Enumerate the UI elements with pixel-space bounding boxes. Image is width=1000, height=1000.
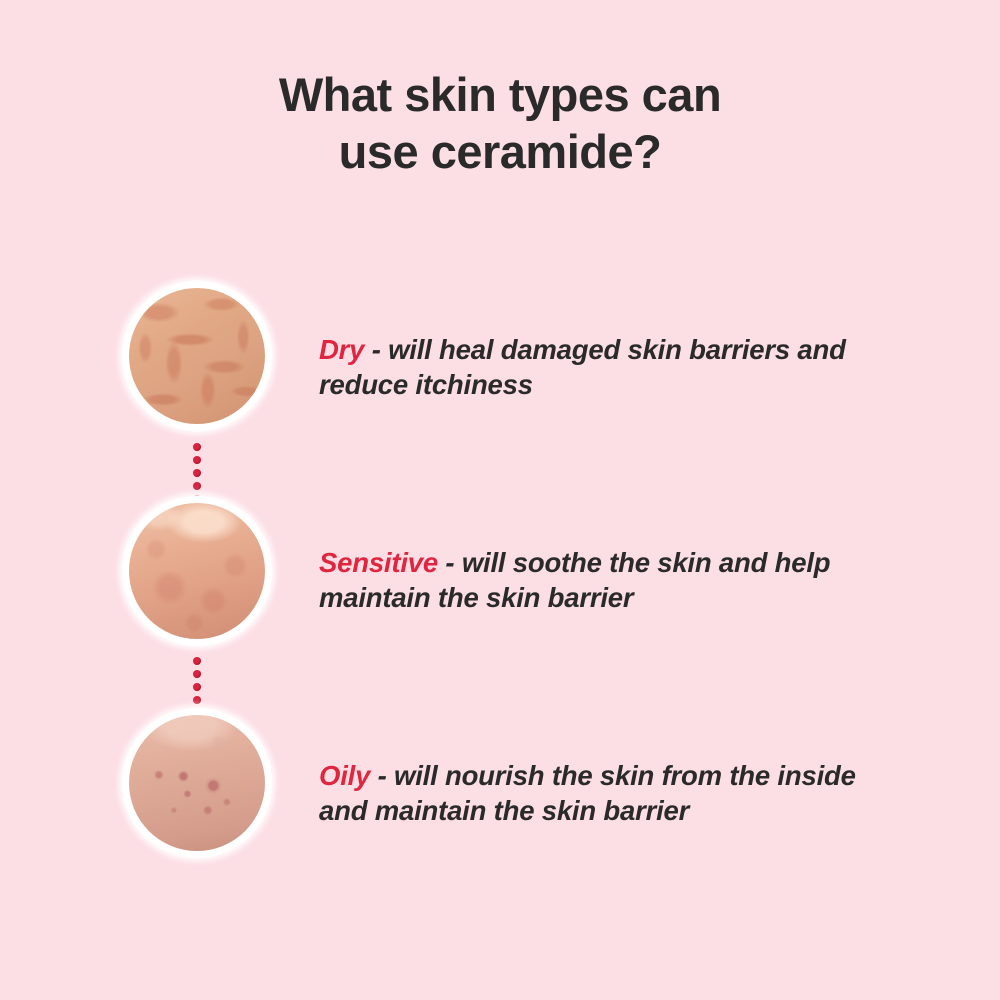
oily-skin-texture <box>129 715 265 851</box>
skin-type-text-dry: will heal damaged skin barriers and redu… <box>319 334 846 400</box>
title-line-2: use ceramide? <box>0 123 1000 180</box>
connector-dot <box>193 670 201 678</box>
oily-skin-photo-inner <box>129 715 265 851</box>
connector-dot <box>193 683 201 691</box>
skin-type-keyword-sensitive: Sensitive <box>319 547 438 578</box>
sensitive-skin-photo-inner <box>129 503 265 639</box>
separator-dry: - <box>364 334 388 365</box>
skin-type-text-oily: will nourish the skin from the inside an… <box>319 760 856 826</box>
sensitive-skin-texture <box>129 503 265 639</box>
connector-dot <box>193 696 201 704</box>
skin-type-keyword-oily: Oily <box>319 760 370 791</box>
dry-skin-texture <box>129 288 265 424</box>
title-line-1: What skin types can <box>0 66 1000 123</box>
connector-dot <box>193 443 201 451</box>
connector-dot <box>193 482 201 490</box>
dotted-connector-2 <box>189 657 205 715</box>
sensitive-skin-photo <box>122 496 272 646</box>
skin-type-description-sensitive: Sensitive - will soothe the skin and hel… <box>319 545 899 615</box>
skin-type-description-dry: Dry - will heal damaged skin barriers an… <box>319 332 899 402</box>
dry-skin-photo <box>122 281 272 431</box>
page-title: What skin types can use ceramide? <box>0 66 1000 180</box>
separator-oily: - <box>370 760 394 791</box>
connector-dot <box>193 469 201 477</box>
infographic-poster: What skin types can use ceramide? Dry - … <box>0 0 1000 1000</box>
connector-dot <box>193 456 201 464</box>
oily-skin-photo <box>122 708 272 858</box>
skin-type-keyword-dry: Dry <box>319 334 364 365</box>
separator-sensitive: - <box>438 547 462 578</box>
connector-dot <box>193 657 201 665</box>
dry-skin-photo-inner <box>129 288 265 424</box>
skin-type-description-oily: Oily - will nourish the skin from the in… <box>319 758 899 828</box>
dotted-connector-1 <box>189 443 205 501</box>
